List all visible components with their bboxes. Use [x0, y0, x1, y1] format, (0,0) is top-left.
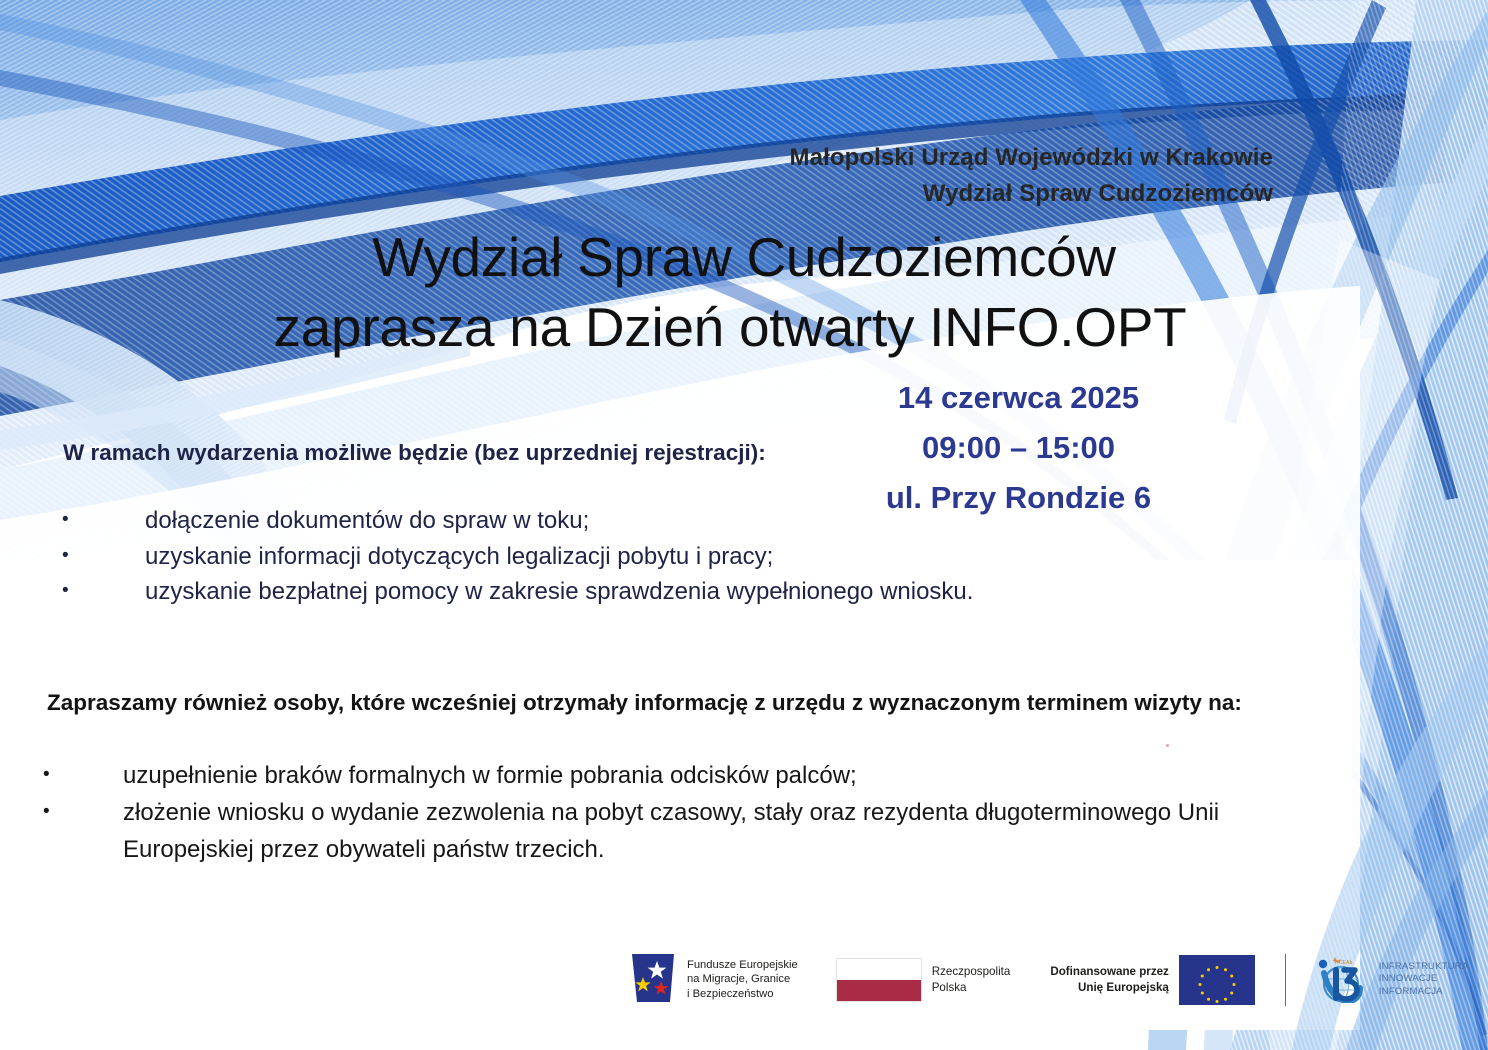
section-one-list: dołączenie dokumentów do spraw w toku; u…	[40, 503, 1140, 610]
i3-line-3: INFORMACJA	[1379, 986, 1469, 998]
eu-funding-text: Dofinansowane przez Unię Europejską	[1050, 964, 1169, 995]
stray-pink-speck	[1166, 744, 1169, 747]
event-date: 14 czerwca 2025	[836, 373, 1201, 423]
list-item: dołączenie dokumentów do spraw w toku;	[40, 503, 1140, 539]
i3-text: INFRASTRUKTURA INNOWACJE INFORMACJA	[1379, 961, 1469, 998]
poland-flag-icon	[836, 958, 922, 1002]
org-line-2: Wydział Spraw Cudzoziemców	[790, 176, 1273, 212]
rzeczpospolita-line-1: Rzeczpospolita	[932, 964, 1011, 980]
section-one-lead: W ramach wydarzenia możliwe będzie (bez …	[63, 440, 766, 466]
logo-fundusze-europejskie: Fundusze Europejskie na Migracje, Granic…	[630, 952, 798, 1007]
rzeczpospolita-text: Rzeczpospolita Polska	[932, 964, 1011, 995]
title-line-1: Wydział Spraw Cudzoziemców	[372, 226, 1116, 288]
event-poster: Małopolski Urząd Wojewódzki w Krakowie W…	[0, 0, 1488, 1050]
fundusze-line-2: na Migracje, Granice	[687, 972, 798, 987]
fundusze-line-3: i Bezpieczeństwo	[687, 987, 798, 1002]
logo-divider	[1285, 954, 1286, 1006]
rzeczpospolita-line-2: Polska	[932, 980, 1011, 996]
list-item: uzupełnienie braków formalnych w formie …	[25, 757, 1315, 794]
event-details: 14 czerwca 2025 09:00 – 15:00 ul. Przy R…	[836, 373, 1201, 523]
organization-header: Małopolski Urząd Wojewódzki w Krakowie W…	[790, 140, 1273, 212]
logo-i3-infrastruktura: II CEAb INFRASTRUKTURA INNOWACJE INFORMA…	[1314, 957, 1469, 1003]
i3-line-2: INNOWACJE	[1379, 973, 1469, 985]
title-line-2: zaprasza na Dzień otwarty INFO.OPT	[0, 292, 1488, 362]
eu-funds-stars-icon	[630, 952, 678, 1007]
logo-european-union: Dofinansowane przez Unię Europejską	[1050, 955, 1255, 1005]
fundusze-line-1: Fundusze Europejskie	[687, 958, 798, 973]
eu-flag-icon	[1179, 955, 1255, 1005]
i3-globe-icon: II CEAb	[1314, 957, 1372, 1003]
list-item: uzyskanie informacji dotyczących legaliz…	[40, 539, 1140, 575]
i3-line-1: INFRASTRUKTURA	[1379, 961, 1469, 973]
org-line-1: Małopolski Urząd Wojewódzki w Krakowie	[790, 140, 1273, 176]
page-title: Wydział Spraw Cudzoziemców zaprasza na D…	[0, 222, 1488, 362]
event-hours: 09:00 – 15:00	[836, 423, 1201, 473]
eu-line-1: Dofinansowane przez	[1050, 964, 1169, 980]
section-two-list: uzupełnienie braków formalnych w formie …	[25, 757, 1315, 868]
section-two-lead: Zapraszamy również osoby, które wcześnie…	[47, 690, 1242, 716]
fundusze-text: Fundusze Europejskie na Migracje, Granic…	[687, 958, 798, 1002]
svg-text:II CEAb: II CEAb	[1335, 960, 1352, 966]
list-item: złożenie wniosku o wydanie zezwolenia na…	[25, 794, 1315, 868]
funding-logo-strip: Fundusze Europejskie na Migracje, Granic…	[630, 952, 1468, 1007]
poster-content: Małopolski Urząd Wojewódzki w Krakowie W…	[0, 0, 1488, 1050]
logo-rzeczpospolita-polska: Rzeczpospolita Polska	[836, 958, 1011, 1002]
eu-line-2: Unię Europejską	[1050, 980, 1169, 996]
list-item: uzyskanie bezpłatnej pomocy w zakresie s…	[40, 574, 1140, 610]
